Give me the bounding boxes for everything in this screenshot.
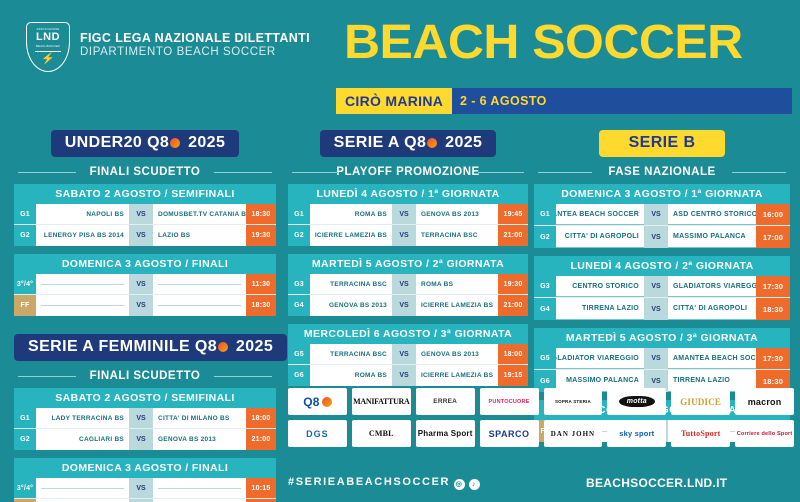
vs-label: VS	[392, 365, 416, 386]
hashtag-block: #SERIEABEACHSOCCER◎♪	[288, 476, 480, 490]
table-row[interactable]: G1 NAPOLI BS VS DOMUSBET.TV CATANIA BS 1…	[14, 204, 276, 225]
away-team: TERRACINA BSC	[416, 225, 498, 246]
away-team: LAZIO BS	[153, 225, 246, 246]
match-code: G4	[288, 295, 310, 316]
vs-label: VS	[392, 295, 416, 316]
table-row[interactable]: G3 CENTRO STORICO VS GLADIATORS VIAREGGI…	[534, 276, 790, 298]
sponsor-logo-puntocuore: PUNTOCUORE	[480, 388, 539, 415]
section-under20: UNDER20 Q8 2025 FINALI SCUDETTO SABATO 2…	[14, 130, 276, 316]
vs-label: VS	[129, 204, 153, 224]
q8-drop-icon	[170, 138, 180, 148]
away-team: ICIERRE LAMEZIA BS	[416, 365, 498, 386]
sponsor-logo-pharmasport: Pharma Sport	[416, 420, 475, 447]
section-title-serieb: SERIE B	[599, 130, 726, 157]
spacer	[534, 248, 790, 256]
match-code: G1	[14, 204, 36, 224]
match-code: G1	[14, 408, 36, 428]
away-team: AMANTEA BEACH SOCCER	[668, 348, 756, 369]
shield-bottom-text: BEACHSOCCER	[36, 44, 60, 48]
seriea-suffix: 2025	[440, 134, 482, 151]
block-serieb-1: LUNEDÌ 4 AGOSTO / 2ª GIORNATA G3 CENTRO …	[534, 256, 790, 320]
subhead-femminile: FINALI SCUDETTO	[14, 370, 276, 382]
match-code: G2	[534, 226, 556, 248]
match-code: G2	[14, 225, 36, 246]
away-team: ICIERRE LAMEZIA BS	[416, 295, 498, 316]
home-team: CITTA' DI AGROPOLI	[556, 226, 644, 248]
home-team: ROMA BS	[310, 204, 392, 224]
table-row[interactable]: G4 TIRRENA LAZIO VS CITTA' DI AGROPOLI 1…	[534, 298, 790, 320]
match-code: 3°/4°	[14, 274, 36, 294]
match-code: G5	[288, 344, 310, 364]
sponsor-label: motta	[619, 396, 655, 407]
sponsor-logo-dgs: DGS	[288, 420, 347, 447]
away-team: MASSIMO PALANCA	[668, 226, 756, 248]
sponsor-row-2: DGS CMBL Pharma Sport SPARCO DAN JOHN sk…	[288, 420, 794, 447]
shield-divider	[35, 51, 61, 52]
match-time: 18:30	[246, 204, 276, 224]
sponsor-logo-giudice: GIUDICE	[671, 388, 730, 415]
home-team: GLADIATOR VIAREGGIO	[556, 348, 644, 369]
section-title-seriea: SERIE A Q8 2025	[320, 130, 497, 157]
daybar: MARTEDÌ 5 AGOSTO / 3ª GIORNATA	[534, 328, 790, 348]
match-list: G1 ROMA BS VS GENOVA BS 2013 19:45 G2 IC…	[288, 204, 528, 246]
vs-label: VS	[392, 344, 416, 364]
vs-label: VS	[644, 298, 668, 320]
block-under20-1: DOMENICA 3 AGOSTO / FINALI 3°/4° VS 11:3…	[14, 254, 276, 316]
daybar: DOMENICA 3 AGOSTO / FINALI	[14, 254, 276, 274]
match-time: 18:00	[246, 408, 276, 428]
home-team: TIRRENA LAZIO	[556, 298, 644, 320]
seriea-prefix: SERIE A	[334, 134, 404, 151]
table-row[interactable]: G1 LADY TERRACINA BS VS CITTA' DI MILANO…	[14, 408, 276, 429]
sponsor-logo-skysport: sky sport	[607, 420, 666, 447]
vs-label: VS	[392, 274, 416, 294]
q8-drop-icon	[218, 342, 228, 352]
event-subtitle-bar: CIRÒ MARINA 2 - 6 AGOSTO	[336, 88, 792, 114]
match-time: 21:00	[246, 429, 276, 450]
under20-suffix: 2025	[183, 134, 225, 151]
away-team-placeholder	[153, 295, 246, 316]
match-list: G3 CENTRO STORICO VS GLADIATORS VIAREGGI…	[534, 276, 790, 320]
match-list: G1 LADY TERRACINA BS VS CITTA' DI MILANO…	[14, 408, 276, 450]
match-time: 17:30	[756, 348, 790, 369]
match-time: 18:00	[498, 344, 528, 364]
spacer	[534, 320, 790, 328]
match-time: 11:30	[246, 274, 276, 294]
block-femminile-0: SABATO 2 AGOSTO / SEMIFINALI G1 LADY TER…	[14, 388, 276, 450]
shield-lnd-word: LND	[36, 31, 60, 43]
q8-drop-icon	[322, 397, 332, 407]
spacer	[288, 316, 528, 324]
femminile-suffix: 2025	[231, 338, 273, 355]
away-team: DOMUSBET.TV CATANIA BS	[153, 204, 246, 224]
poster-root: ASSOCIAZIONE LND BEACHSOCCER ⚡ FIGC LEGA…	[0, 0, 800, 502]
daybar: SABATO 2 AGOSTO / SEMIFINALI	[14, 184, 276, 204]
away-team: ASD CENTRO STORICO	[668, 204, 756, 225]
block-serieb-0: DOMENICA 3 AGOSTO / 1ª GIORNATA G1 AMANT…	[534, 184, 790, 248]
sponsor-logo-soprasteria: SOPRA STERIA	[544, 388, 603, 415]
poster-header: ASSOCIAZIONE LND BEACHSOCCER ⚡ FIGC LEGA…	[0, 0, 800, 122]
vs-label: VS	[129, 225, 153, 246]
home-team: LADY TERRACINA BS	[36, 408, 129, 428]
table-row[interactable]: G2 CITTA' DI AGROPOLI VS MASSIMO PALANCA…	[534, 226, 790, 248]
table-row[interactable]: G2 CAGLIARI BS VS GENOVA BS 2013 21:00	[14, 429, 276, 450]
sponsor-logo-cmbl: CMBL	[352, 420, 411, 447]
match-time: 19:45	[498, 204, 528, 224]
org-line-2: DIPARTIMENTO BEACH SOCCER	[80, 46, 310, 58]
match-time: 21:00	[498, 225, 528, 246]
match-list: G5 GLADIATOR VIAREGGIO VS AMANTEA BEACH …	[534, 348, 790, 392]
away-team: GLADIATORS VIAREGGIO	[668, 276, 756, 297]
event-dates: 2 - 6 AGOSTO	[460, 88, 547, 114]
table-row[interactable]: G5 TERRACINA BSC VS GENOVA BS 2013 18:00	[288, 344, 528, 365]
daybar: DOMENICA 3 AGOSTO / 1ª GIORNATA	[534, 184, 790, 204]
daybar: MARTEDÌ 5 AGOSTO / 2ª GIORNATA	[288, 254, 528, 274]
sponsor-strip: Q8 MANIFATTURA ERREA PUNTOCUORE SOPRA ST…	[288, 388, 794, 452]
home-team: TERRACINA BSC	[310, 274, 392, 294]
daybar: LUNEDÌ 4 AGOSTO / 1ª GIORNATA	[288, 184, 528, 204]
column-middle: SERIE A Q8 2025 PLAYOFF PROMOZIONE LUNED…	[288, 130, 528, 386]
table-row[interactable]: G1 AMANTEA BEACH SOCCER VS ASD CENTRO ST…	[534, 204, 790, 226]
block-seriea-2: MERCOLEDÌ 6 AGOSTO / 3ª GIORNATA G5 TERR…	[288, 324, 528, 386]
home-team: ICIERRE LAMEZIA BS	[310, 225, 392, 246]
match-time: 18:30	[756, 298, 790, 320]
home-team: ROMA BS	[310, 365, 392, 386]
sponsor-logo-motta: motta	[607, 388, 666, 415]
match-time: 19:15	[498, 365, 528, 386]
hashtag-text: #SERIEABEACHSOCCER	[288, 476, 450, 488]
spacer	[288, 246, 528, 254]
match-code: G6	[288, 365, 310, 386]
block-seriea-1: MARTEDÌ 5 AGOSTO / 2ª GIORNATA G3 TERRAC…	[288, 254, 528, 316]
table-row[interactable]: G2 ICIERRE LAMEZIA BS VS TERRACINA BSC 2…	[288, 225, 528, 246]
website-url[interactable]: BEACHSOCCER.LND.IT	[586, 476, 727, 490]
match-time: 19:30	[246, 225, 276, 246]
match-code: G1	[288, 204, 310, 224]
q8-brand: Q8	[195, 338, 217, 355]
match-code: G3	[288, 274, 310, 294]
daybar: SABATO 2 AGOSTO / SEMIFINALI	[14, 388, 276, 408]
block-under20-0: SABATO 2 AGOSTO / SEMIFINALI G1 NAPOLI B…	[14, 184, 276, 246]
event-city: CIRÒ MARINA	[336, 88, 452, 114]
home-team-placeholder	[36, 274, 129, 294]
match-time: 18:30	[246, 295, 276, 316]
away-team: GENOVA BS 2013	[416, 344, 498, 364]
section-title-under20: UNDER20 Q8 2025	[51, 130, 240, 157]
home-team: CAGLIARI BS	[36, 429, 129, 450]
vs-label: VS	[129, 295, 153, 316]
vs-label: VS	[644, 276, 668, 297]
table-row[interactable]: G1 ROMA BS VS GENOVA BS 2013 19:45	[288, 204, 528, 225]
section-title-femminile: SERIE A FEMMINILE Q8 2025	[14, 334, 287, 361]
match-time: 19:30	[498, 274, 528, 294]
daybar: MERCOLEDÌ 6 AGOSTO / 3ª GIORNATA	[288, 324, 528, 344]
match-code: G2	[288, 225, 310, 246]
match-list: G1 AMANTEA BEACH SOCCER VS ASD CENTRO ST…	[534, 204, 790, 248]
vs-label: VS	[644, 226, 668, 248]
match-time: 17:30	[756, 276, 790, 297]
spacer	[14, 450, 276, 458]
match-time: 21:00	[498, 295, 528, 316]
poster-footer: #SERIEABEACHSOCCER◎♪ BEACHSOCCER.LND.IT	[0, 470, 800, 502]
home-team: CENTRO STORICO	[556, 276, 644, 297]
home-team: TERRACINA BSC	[310, 344, 392, 364]
match-time: 16:00	[756, 204, 790, 225]
subhead-seriea: PLAYOFF PROMOZIONE	[288, 166, 528, 178]
lightning-bolt-icon: ⚡	[41, 54, 55, 65]
match-code: G2	[14, 429, 36, 450]
sponsor-row-1: Q8 MANIFATTURA ERREA PUNTOCUORE SOPRA ST…	[288, 388, 794, 415]
vs-label: VS	[644, 348, 668, 369]
lnd-shield-logo: ASSOCIAZIONE LND BEACHSOCCER ⚡	[26, 22, 72, 74]
match-list: G5 TERRACINA BSC VS GENOVA BS 2013 18:00…	[288, 344, 528, 386]
match-list: G1 NAPOLI BS VS DOMUSBET.TV CATANIA BS 1…	[14, 204, 276, 246]
subhead-serieb: FASE NAZIONALE	[534, 166, 790, 178]
instagram-icon[interactable]: ◎	[454, 479, 465, 490]
table-row[interactable]: G6 ROMA BS VS ICIERRE LAMEZIA BS 19:15	[288, 365, 528, 386]
sponsor-logo-errea: ERREA	[416, 388, 475, 415]
match-list: 3°/4° VS 11:30 FF VS 18:30	[14, 274, 276, 316]
home-team: AMANTEA BEACH SOCCER	[556, 204, 644, 225]
sponsor-logo-manifattura: MANIFATTURA	[352, 388, 411, 415]
subhead-under20: FINALI SCUDETTO	[14, 166, 276, 178]
away-team: CITTA' DI MILANO BS	[153, 408, 246, 428]
spacer	[14, 316, 276, 334]
match-code: G4	[534, 298, 556, 320]
vs-label: VS	[392, 204, 416, 224]
match-list: G3 TERRACINA BSC VS ROMA BS 19:30 G4 GEN…	[288, 274, 528, 316]
organization-text: FIGC LEGA NAZIONALE DILETTANTI DIPARTIME…	[80, 31, 310, 58]
match-code: G3	[534, 276, 556, 297]
under20-prefix: UNDER20	[65, 134, 147, 151]
table-row[interactable]: G4 GENOVA BS 2013 VS ICIERRE LAMEZIA BS …	[288, 295, 528, 316]
match-time: 17:00	[756, 226, 790, 248]
home-team: LENERGY PISA BS 2014	[36, 225, 129, 246]
table-row[interactable]: G2 LENERGY PISA BS 2014 VS LAZIO BS 19:3…	[14, 225, 276, 246]
q8-drop-icon	[427, 138, 437, 148]
block-seriea-0: LUNEDÌ 4 AGOSTO / 1ª GIORNATA G1 ROMA BS…	[288, 184, 528, 246]
home-team-placeholder	[36, 295, 129, 316]
tiktok-icon[interactable]: ♪	[469, 479, 480, 490]
sponsor-logo-sparco: SPARCO	[480, 420, 539, 447]
away-team: CITTA' DI AGROPOLI	[668, 298, 756, 320]
page-title: BEACH SOCCER	[344, 14, 743, 72]
sponsor-logo-corrieredellosport: Corriere dello Sport	[735, 420, 794, 447]
home-team: NAPOLI BS	[36, 204, 129, 224]
vs-label: VS	[129, 408, 153, 428]
vs-label: VS	[129, 274, 153, 294]
away-team-placeholder	[153, 274, 246, 294]
femminile-prefix: SERIE A FEMMINILE	[28, 338, 195, 355]
away-team: GENOVA BS 2013	[153, 429, 246, 450]
sponsor-logo-danjohn: DAN JOHN	[544, 420, 603, 447]
table-row[interactable]: G3 TERRACINA BSC VS ROMA BS 19:30	[288, 274, 528, 295]
match-code: G1	[534, 204, 556, 225]
table-row[interactable]: G5 GLADIATOR VIAREGGIO VS AMANTEA BEACH …	[534, 348, 790, 370]
spacer	[14, 246, 276, 254]
block-serieb-2: MARTEDÌ 5 AGOSTO / 3ª GIORNATA G5 GLADIA…	[534, 328, 790, 392]
q8-brand: Q8	[147, 134, 169, 151]
home-team: GENOVA BS 2013	[310, 295, 392, 316]
match-code: FF	[14, 295, 36, 316]
column-left: UNDER20 Q8 2025 FINALI SCUDETTO SABATO 2…	[14, 130, 276, 502]
table-row[interactable]: FF VS 18:30	[14, 295, 276, 316]
vs-label: VS	[129, 429, 153, 450]
table-row[interactable]: 3°/4° VS 11:30	[14, 274, 276, 295]
vs-label: VS	[644, 204, 668, 225]
vs-label: VS	[392, 225, 416, 246]
org-line-1: FIGC LEGA NAZIONALE DILETTANTI	[80, 31, 310, 45]
away-team: ROMA BS	[416, 274, 498, 294]
sponsor-logo-tuttosport: TuttoSport	[671, 420, 730, 447]
q8-brand: Q8	[404, 134, 426, 151]
away-team: GENOVA BS 2013	[416, 204, 498, 224]
daybar: LUNEDÌ 4 AGOSTO / 2ª GIORNATA	[534, 256, 790, 276]
sponsor-label: Q8	[303, 395, 319, 409]
match-code: G5	[534, 348, 556, 369]
sponsor-logo-q8: Q8	[288, 388, 347, 415]
sponsor-logo-macron: macron	[735, 388, 794, 415]
